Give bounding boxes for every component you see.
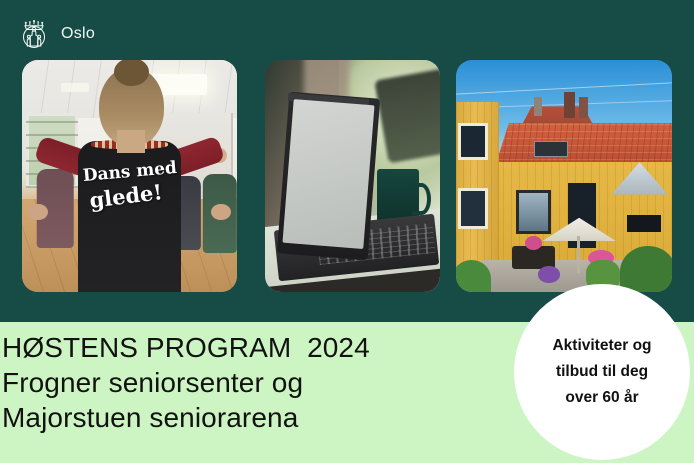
audience-badge: Aktiviteter og tilbud til deg over 60 år [514,284,690,460]
badge-line-1: Aktiviteter og [552,333,651,359]
oslo-wordmark: Oslo [61,26,95,42]
badge-line-2: tilbud til deg [556,359,648,385]
oslo-coat-of-arms-icon [16,16,52,52]
yellow-building-photo [456,60,672,292]
headline-line-1: HØSTENS PROGRAM 2024 [2,330,370,365]
oslo-logo[interactable]: Oslo [16,16,95,52]
badge-line-3: over 60 år [565,385,638,411]
headline-line-2: Frogner seniorsenter og [2,365,370,400]
laptop-photo [265,60,440,292]
shirt-slogan: Dans med glede! [74,164,186,206]
photo-row: Dans med glede! [0,0,694,322]
poster-headline: HØSTENS PROGRAM 2024 Frogner seniorsente… [2,330,370,435]
dance-class-photo: Dans med glede! [22,60,237,292]
poster-canvas: Oslo [0,0,694,463]
headline-line-3: Majorstuen seniorarena [2,400,370,435]
